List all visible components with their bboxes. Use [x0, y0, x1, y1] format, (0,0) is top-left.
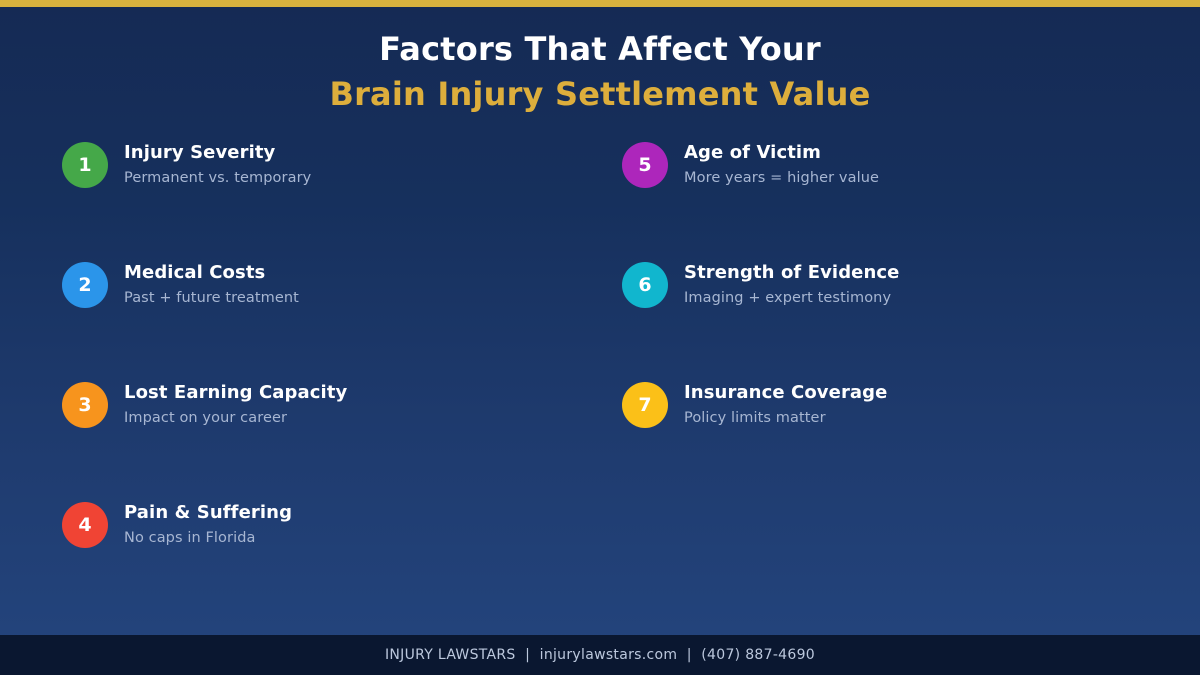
factor-title: Medical Costs [124, 261, 299, 284]
footer-bar: INJURY LAWSTARS | injurylawstars.com | (… [0, 635, 1200, 675]
factor-number-badge: 5 [622, 142, 668, 188]
top-accent-bar [0, 0, 1200, 7]
factor-body: Lost Earning CapacityImpact on your care… [124, 381, 347, 429]
footer-contact-text: INJURY LAWSTARS | injurylawstars.com | (… [385, 647, 815, 663]
factor-subtitle: Past + future treatment [124, 287, 299, 309]
page-title: Factors That Affect Your Brain Injury Se… [0, 27, 1200, 117]
factor-body: Strength of EvidenceImaging + expert tes… [684, 261, 900, 309]
factor-title: Insurance Coverage [684, 381, 887, 404]
factor-body: Age of VictimMore years = higher value [684, 141, 879, 189]
factor-body: Insurance CoveragePolicy limits matter [684, 381, 887, 429]
factor-body: Pain & SufferingNo caps in Florida [124, 501, 292, 549]
factor-title: Pain & Suffering [124, 501, 292, 524]
factor-title: Strength of Evidence [684, 261, 900, 284]
factor-number-badge: 6 [622, 262, 668, 308]
factor-number-badge: 3 [62, 382, 108, 428]
page-title-line-2: Brain Injury Settlement Value [0, 72, 1200, 117]
factor-number-badge: 4 [62, 502, 108, 548]
factor-number-badge: 7 [622, 382, 668, 428]
page-title-line-1: Factors That Affect Your [0, 27, 1200, 72]
factor-list: 1Injury SeverityPermanent vs. temporary2… [0, 142, 1200, 602]
factor-subtitle: Impact on your career [124, 407, 347, 429]
factor-subtitle: Permanent vs. temporary [124, 167, 311, 189]
factor-subtitle: Policy limits matter [684, 407, 887, 429]
factor-body: Medical CostsPast + future treatment [124, 261, 299, 309]
factor-title: Age of Victim [684, 141, 879, 164]
factor-subtitle: Imaging + expert testimony [684, 287, 900, 309]
infographic-slide: Factors That Affect Your Brain Injury Se… [0, 0, 1200, 675]
factor-title: Injury Severity [124, 141, 311, 164]
factor-title: Lost Earning Capacity [124, 381, 347, 404]
factor-body: Injury SeverityPermanent vs. temporary [124, 141, 311, 189]
factor-subtitle: More years = higher value [684, 167, 879, 189]
factor-subtitle: No caps in Florida [124, 527, 292, 549]
factor-number-badge: 2 [62, 262, 108, 308]
factor-number-badge: 1 [62, 142, 108, 188]
